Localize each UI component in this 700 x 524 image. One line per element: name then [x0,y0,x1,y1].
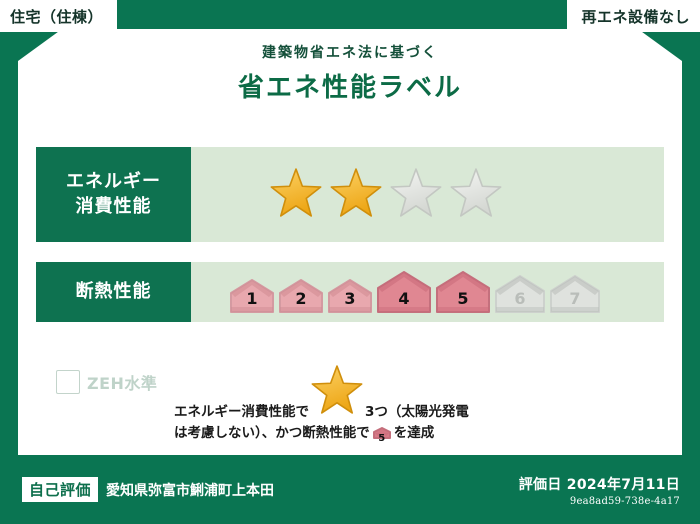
zeh-badge: ZEH水準 [36,365,174,394]
insulation-performance-label: 断熱性能 [36,262,191,322]
label-id: 9ea8ad59-738e-4a17 [519,496,680,507]
house-level-1: 1 [229,277,275,315]
house-level-6: 6 [494,273,546,315]
tab-building-type-label: 住宅（住棟） [10,6,103,27]
insulation-performance-row: 断熱性能 1234567 [36,262,664,322]
energy-performance-row: エネルギー 消費性能 [36,147,664,242]
house-level-4: 4 [376,269,432,315]
energy-label-line1: エネルギー [66,170,161,194]
zeh-desc-part4: を達成 [394,425,435,441]
zeh-label: ZEH水準 [87,370,157,394]
evaluation-date: 評価日 2024年7月11日 [519,474,680,494]
insulation-label-text: 断熱性能 [76,280,152,304]
house-level-5: 5 [435,269,491,315]
tab-renewable-energy[interactable]: 再エネ設備なし [567,0,700,32]
page-subtitle: 建築物省エネ法に基づく [0,42,700,62]
zeh-desc-part3: は考慮しない）、かつ断熱性能で [174,425,370,441]
zeh-checkbox-icon [56,370,80,394]
house-level-2: 2 [278,277,324,315]
tab-building-type[interactable]: 住宅（住棟） [0,0,117,32]
inline-house-icon: 5 [372,425,392,448]
zeh-section: ZEH水準 エネルギー消費性能で3つ（太陽光発電 は考慮しない）、かつ断熱性能で… [36,365,664,448]
page-title: 建築物省エネ法に基づく 省エネ性能ラベル [0,42,700,104]
footer-left: 自己評価 愛知県弥富市鯏浦町上本田 [22,477,274,502]
energy-performance-value [191,147,664,242]
energy-label-line2: 消費性能 [76,195,152,219]
zeh-description: エネルギー消費性能で3つ（太陽光発電 は考慮しない）、かつ断熱性能で5を達成 [174,365,664,448]
self-evaluation-badge: 自己評価 [22,477,98,502]
house-level-3: 3 [327,277,373,315]
page-main-title: 省エネ性能ラベル [0,67,700,104]
zeh-desc-part1: エネルギー消費性能で [174,404,309,420]
inline-star-icon [310,365,364,419]
property-address: 愛知県弥富市鯏浦町上本田 [106,480,274,500]
insulation-performance-value: 1234567 [191,262,664,322]
zeh-desc-part2: 3つ（太陽光発電 [365,404,469,420]
star-rating [191,168,503,222]
house-rating-scale: 1234567 [191,269,601,315]
house-level-7: 7 [549,273,601,315]
tab-renewable-energy-label: 再エネ設備なし [581,6,690,27]
energy-performance-label: エネルギー 消費性能 [36,147,191,242]
footer-right: 評価日 2024年7月11日 9ea8ad59-738e-4a17 [519,474,680,507]
